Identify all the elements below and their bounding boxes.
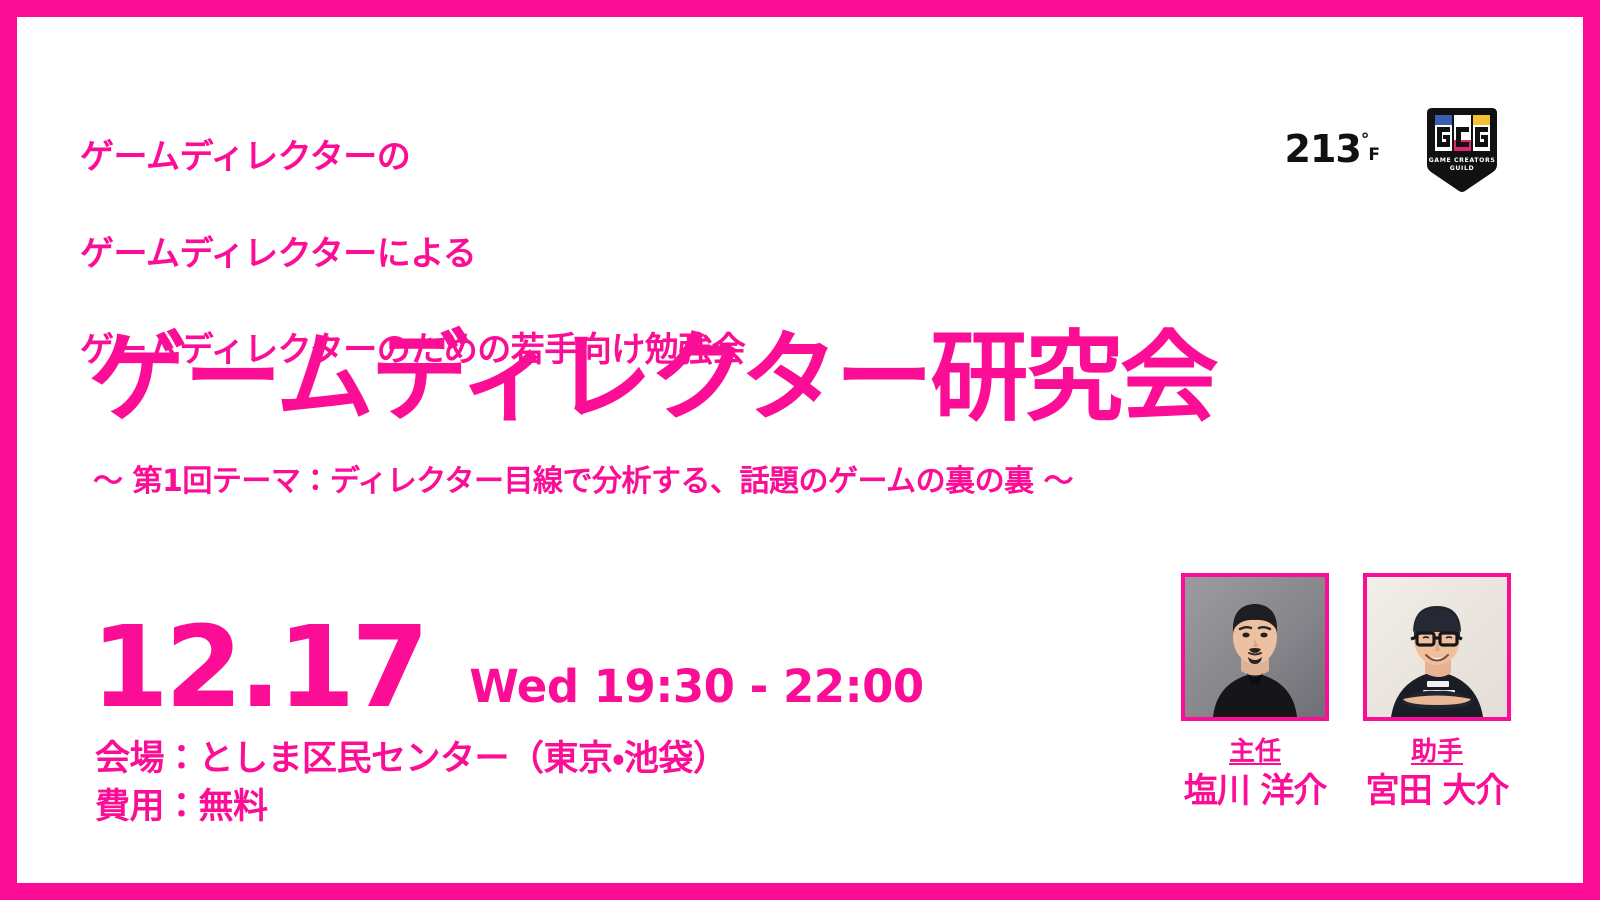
event-day-time: Wed 19:30 - 22:00 <box>469 664 923 709</box>
page-subtitle: 〜 第1回テーマ：ディレクター目線で分析する、話題のゲームの裏の裏 〜 <box>93 464 1073 500</box>
degree-icon: ° <box>1361 132 1369 149</box>
speaker-role-2: 助手 <box>1363 738 1511 767</box>
speaker-name-2: 宮田 大介 <box>1363 773 1511 810</box>
page-title: ゲームディレクター研究会 <box>89 329 1215 427</box>
speaker-role-1: 主任 <box>1181 738 1329 767</box>
event-date: 12.17 <box>91 617 425 720</box>
speaker-list: 主任 塩川 洋介 <box>1181 573 1511 810</box>
speaker-photo-1 <box>1181 573 1329 721</box>
logo-gcg-shield-icon: GAME CREATORS GUILD <box>1419 103 1505 195</box>
logo-213f: 213 ° F <box>1285 130 1379 168</box>
poster-inner: ゲームディレクターの ゲームディレクターによる ゲームディレクターのための若手向… <box>17 17 1583 883</box>
tagline-line-1: ゲームディレクターの <box>80 133 745 181</box>
speaker-photo-2 <box>1363 573 1511 721</box>
logo-gcg-caption-1: GAME CREATORS <box>1429 157 1496 164</box>
event-venue: 会場：としま区民センター（東京・池袋） <box>95 735 727 783</box>
event-poster: ゲームディレクターの ゲームディレクターによる ゲームディレクターのための若手向… <box>0 0 1600 900</box>
speaker-card-1: 主任 塩川 洋介 <box>1181 573 1329 810</box>
logo-gcg-caption-2: GUILD <box>1450 165 1474 172</box>
logo-row: 213 ° F GAME CREATORS GUILD <box>1285 103 1505 195</box>
event-fee: 費用：無料 <box>95 783 727 831</box>
speaker-name-1: 塩川 洋介 <box>1181 773 1329 810</box>
logo-213f-number: 213 <box>1285 130 1361 168</box>
speaker-card-2: 助手 宮田 大介 <box>1363 573 1511 810</box>
logo-213f-unit: F <box>1368 147 1379 164</box>
tagline-line-2: ゲームディレクターによる <box>80 230 745 278</box>
event-info: 会場：としま区民センター（東京・池袋） 費用：無料 <box>95 735 727 832</box>
event-date-row: 12.17 Wed 19:30 - 22:00 <box>91 617 924 720</box>
